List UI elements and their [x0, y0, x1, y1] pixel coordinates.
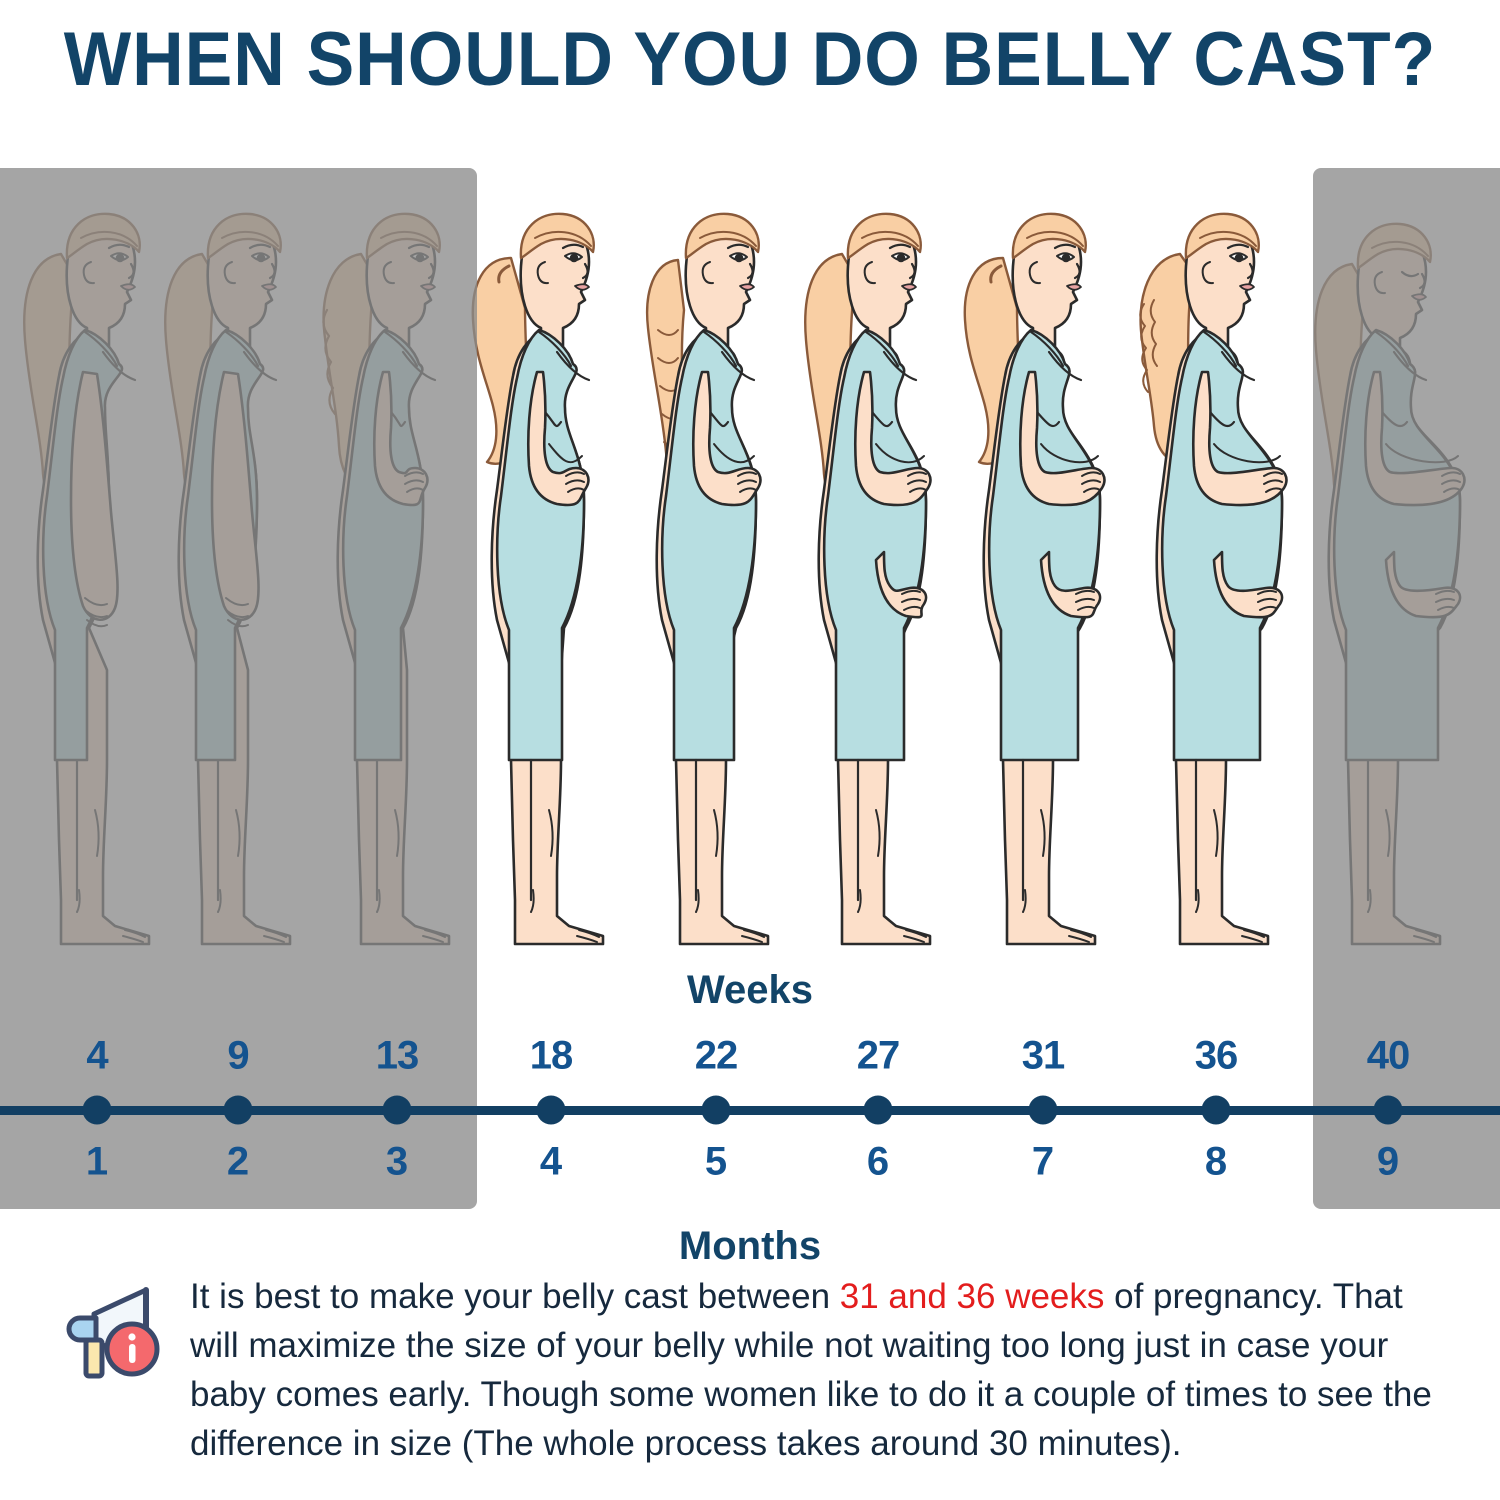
tick-month-label: 6 — [867, 1140, 889, 1185]
tick-month-label: 9 — [1377, 1140, 1399, 1185]
page-title: WHEN SHOULD YOU DO BELLY CAST? — [45, 18, 1455, 102]
tick-month-label: 7 — [1032, 1140, 1054, 1185]
footnote: It is best to make your belly cast betwe… — [60, 1272, 1460, 1468]
footnote-highlight: 31 and 36 weeks — [840, 1277, 1105, 1316]
timeline-tick-week-9[interactable]: 92 — [224, 1092, 253, 1121]
timeline-tick-week-27[interactable]: 276 — [864, 1092, 893, 1121]
timeline-tick-week-31[interactable]: 317 — [1029, 1092, 1058, 1121]
timeline-tick-week-40[interactable]: 409 — [1374, 1092, 1403, 1121]
tick-dot — [537, 1096, 566, 1125]
megaphone-info-icon — [60, 1280, 168, 1386]
tick-month-label: 4 — [540, 1140, 562, 1185]
tick-dot — [1029, 1096, 1058, 1125]
pregnancy-figure-week-31 — [945, 200, 1141, 960]
tick-month-label: 3 — [386, 1140, 408, 1185]
tick-month-label: 5 — [705, 1140, 727, 1185]
footnote-text: It is best to make your belly cast betwe… — [190, 1272, 1435, 1468]
timeline-tick-week-18[interactable]: 184 — [537, 1092, 566, 1121]
timeline-tick-week-22[interactable]: 225 — [702, 1092, 731, 1121]
tick-week-label: 18 — [530, 1034, 573, 1079]
infographic-canvas: WHEN SHOULD YOU DO BELLY CAST? — [0, 0, 1500, 1500]
tick-week-label: 40 — [1367, 1034, 1410, 1079]
tick-dot — [864, 1096, 893, 1125]
tick-dot — [1202, 1096, 1231, 1125]
tick-week-label: 13 — [376, 1034, 419, 1079]
tick-week-label: 9 — [227, 1034, 248, 1079]
tick-month-label: 2 — [227, 1140, 249, 1185]
tick-week-label: 36 — [1195, 1034, 1238, 1079]
timeline-tick-week-4[interactable]: 41 — [83, 1092, 112, 1121]
tick-week-label: 4 — [86, 1034, 107, 1079]
tick-dot — [383, 1096, 412, 1125]
tick-dot — [1374, 1096, 1403, 1125]
months-axis-caption: Months — [0, 1224, 1500, 1269]
tick-dot — [224, 1096, 253, 1125]
footnote-part1: It is best to make your belly cast betwe… — [190, 1277, 840, 1316]
timeline-tick-week-36[interactable]: 368 — [1202, 1092, 1231, 1121]
tick-month-label: 8 — [1205, 1140, 1227, 1185]
timeline-tick-week-13[interactable]: 133 — [383, 1092, 412, 1121]
weeks-axis-caption: Weeks — [0, 968, 1500, 1013]
pregnancy-figure-week-36 — [1118, 200, 1314, 960]
tick-month-label: 1 — [86, 1140, 108, 1185]
tick-week-label: 31 — [1022, 1034, 1065, 1079]
tick-week-label: 27 — [857, 1034, 900, 1079]
tick-week-label: 22 — [695, 1034, 738, 1079]
tick-dot — [83, 1096, 112, 1125]
tick-dot — [702, 1096, 731, 1125]
